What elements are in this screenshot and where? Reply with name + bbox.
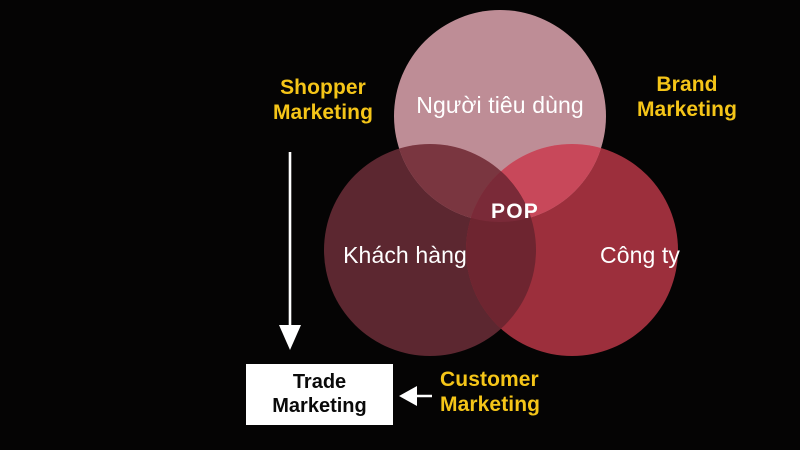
annotation-shopper-marketing: Shopper Marketing xyxy=(248,76,398,125)
venn-label-consumer: Người tiêu dùng xyxy=(390,92,610,119)
arrow-customer-to-trade xyxy=(399,386,432,406)
arrow-shopper-to-trade xyxy=(279,152,301,350)
annotation-trade-marketing: Trade Marketing xyxy=(272,371,366,417)
venn-diagram xyxy=(0,0,800,450)
venn-label-pop: POP xyxy=(455,200,575,225)
diagram-canvas: Người tiêu dùng Khách hàng Công ty POP S… xyxy=(0,0,800,450)
annotation-brand-marketing: Brand Marketing xyxy=(614,73,760,122)
trade-marketing-box: Trade Marketing xyxy=(246,364,393,425)
venn-label-customer: Khách hàng xyxy=(320,242,490,269)
venn-label-company: Công ty xyxy=(565,242,715,269)
annotation-customer-marketing: Customer Marketing xyxy=(440,368,632,417)
